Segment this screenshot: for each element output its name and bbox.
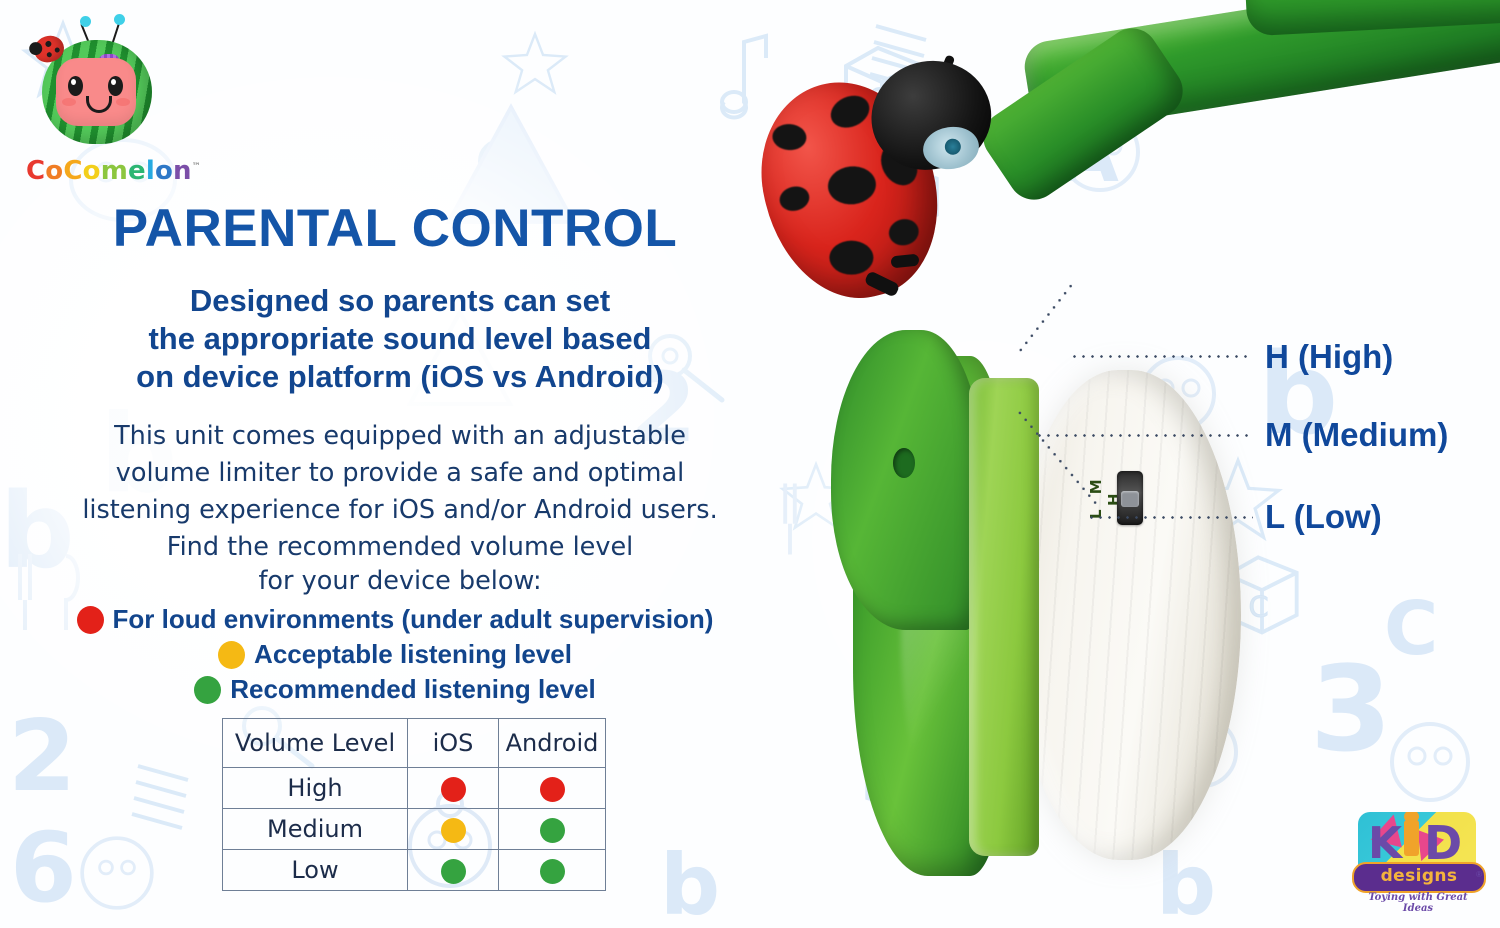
kiddesigns-banner: designs xyxy=(1352,862,1486,893)
volume-level-table: Volume Level iOS Android HighMediumLow xyxy=(222,718,606,891)
yoke-hole xyxy=(893,448,915,478)
cell-ios-indicator xyxy=(408,850,499,891)
body-line: volume limiter to provide a safe and opt… xyxy=(0,455,800,492)
wordmark-letter-0: C xyxy=(26,156,45,186)
earcup-assembly: L M H xyxy=(845,330,1265,890)
legend-dot-2 xyxy=(194,676,221,704)
legend-dot-0 xyxy=(77,606,104,634)
melon-eye-left xyxy=(68,76,83,96)
wordmark-letter-6: l xyxy=(146,156,155,186)
callout-medium: M (Medium) xyxy=(1265,416,1448,454)
earcup-yoke xyxy=(831,330,981,630)
subheading-line: Designed so parents can set xyxy=(0,282,800,320)
cell-android-indicator xyxy=(499,809,606,850)
table-row: High xyxy=(223,768,606,809)
melon-face xyxy=(56,58,136,126)
column-header-ios: iOS xyxy=(408,719,499,768)
wordmark-letter-3: o xyxy=(83,156,101,186)
legend-label: For loud environments (under adult super… xyxy=(113,604,714,635)
legend-row: Recommended listening level xyxy=(0,674,790,705)
antenna-ball-icon xyxy=(114,14,125,25)
status-dot xyxy=(441,777,466,802)
leader-line-medium xyxy=(1035,434,1253,437)
cell-volume-level: Low xyxy=(223,850,408,891)
body-paragraph: This unit comes equipped with an adjusta… xyxy=(0,418,800,529)
infographic-canvas: C C b b 2 6 2 3 3 A b C b b xyxy=(0,0,1500,928)
subheading: Designed so parents can set the appropri… xyxy=(0,282,800,396)
earcup-rim: L M H xyxy=(969,378,1039,856)
wordmark-letter-1: o xyxy=(45,156,63,186)
melon-eye-right xyxy=(108,76,123,96)
antenna-ball-icon xyxy=(80,16,91,27)
column-header-volume-level: Volume Level xyxy=(223,719,408,768)
registered-mark: ® xyxy=(1476,870,1482,879)
status-dot xyxy=(540,859,565,884)
status-dot xyxy=(540,818,565,843)
wordmark-letter-2: C xyxy=(63,156,82,186)
wordmark-letter-7: o xyxy=(155,156,173,186)
trademark-mark: ™ xyxy=(192,162,201,172)
callout-low: L (Low) xyxy=(1265,498,1382,536)
table-header-row: Volume Level iOS Android xyxy=(223,719,606,768)
status-dot xyxy=(441,818,466,843)
leader-line-high xyxy=(1070,355,1252,358)
kiddesigns-logo: K D designs ® Toying with Great Ideas xyxy=(1352,812,1484,908)
page-title: PARENTAL CONTROL xyxy=(0,198,790,259)
body-line: for your device below: xyxy=(0,564,800,598)
volume-legend: For loud environments (under adult super… xyxy=(0,604,790,709)
body-paragraph-secondary: Find the recommended volume level for yo… xyxy=(0,530,800,598)
status-dot xyxy=(540,777,565,802)
cell-volume-level: Medium xyxy=(223,809,408,850)
column-header-android: Android xyxy=(499,719,606,768)
wordmark-letter-8: n xyxy=(173,156,192,186)
subheading-line: on device platform (iOS vs Android) xyxy=(0,358,800,396)
melon-mouth xyxy=(86,96,112,113)
cell-volume-level: High xyxy=(223,768,408,809)
legend-dot-1 xyxy=(218,641,245,669)
legend-row: For loud environments (under adult super… xyxy=(0,604,790,635)
kiddesigns-letter-i xyxy=(1404,820,1419,856)
kiddesigns-tagline: Toying with Great Ideas xyxy=(1352,892,1484,914)
melon-blush-left xyxy=(62,98,76,106)
callout-high: H (High) xyxy=(1265,338,1393,376)
cell-ios-indicator xyxy=(408,768,499,809)
subheading-line: the appropriate sound level based xyxy=(0,320,800,358)
leader-line-low xyxy=(1087,516,1253,519)
cell-ios-indicator xyxy=(408,809,499,850)
wordmark-letter-4: m xyxy=(101,156,128,186)
cell-android-indicator xyxy=(499,768,606,809)
legend-label: Recommended listening level xyxy=(230,674,596,705)
melon-blush-right xyxy=(116,98,130,106)
legend-label: Acceptable listening level xyxy=(254,639,572,670)
body-line: listening experience for iOS and/or Andr… xyxy=(0,492,800,529)
wordmark-letter-5: e xyxy=(128,156,146,186)
cell-android-indicator xyxy=(499,850,606,891)
cocomelon-logo: CoComelon™ xyxy=(18,16,188,186)
ladybug-figure xyxy=(755,55,985,315)
headphone-product-photo: L M H H (High) M (Medium) L (Low) xyxy=(735,0,1500,928)
status-dot xyxy=(441,859,466,884)
cocomelon-wordmark: CoComelon™ xyxy=(26,156,186,186)
kiddesigns-designs-text: designs xyxy=(1354,866,1484,886)
table-row: Low xyxy=(223,850,606,891)
body-line: This unit comes equipped with an adjusta… xyxy=(0,418,800,455)
legend-row: Acceptable listening level xyxy=(0,639,790,670)
table-row: Medium xyxy=(223,809,606,850)
headband xyxy=(995,0,1500,200)
body-line: Find the recommended volume level xyxy=(0,530,800,564)
